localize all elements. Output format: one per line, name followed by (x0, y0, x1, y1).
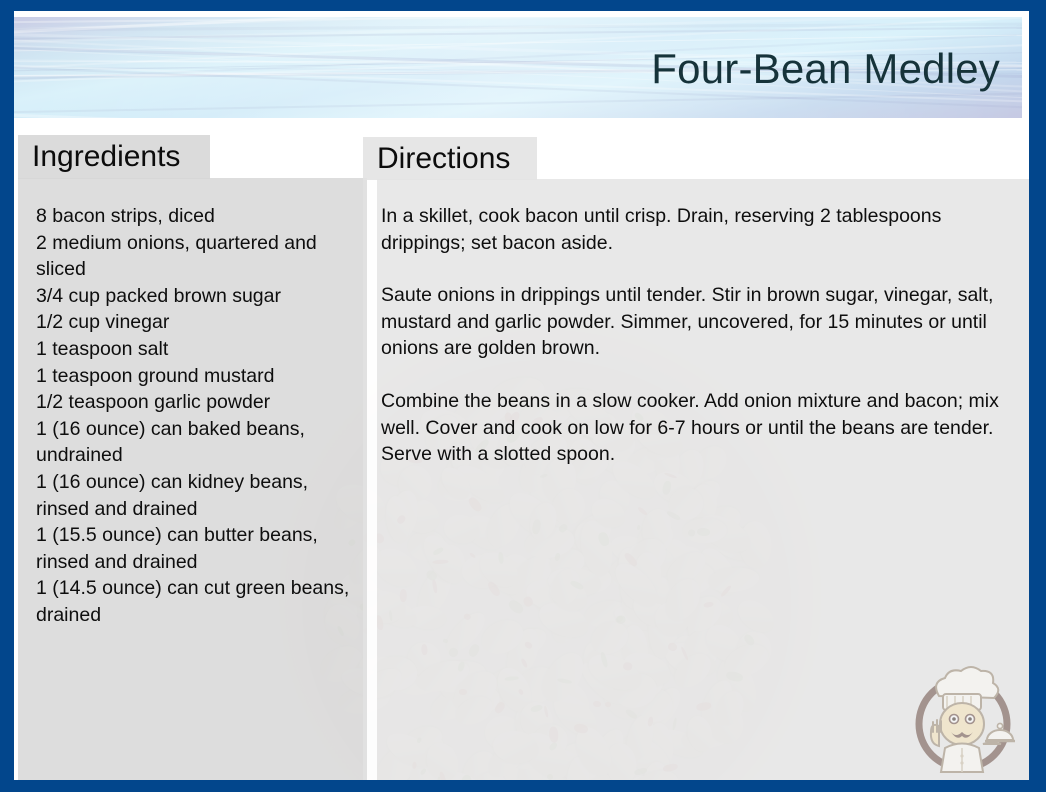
column-divider (367, 179, 377, 780)
ingredient-item: 2 medium onions, quartered and sliced (36, 230, 356, 283)
ingredient-item: 1 teaspoon ground mustard (36, 363, 356, 390)
directions-list: In a skillet, cook bacon until crisp. Dr… (381, 203, 1029, 494)
chef-mascot-logo (903, 656, 1023, 776)
ingredients-list: 8 bacon strips, diced2 medium onions, qu… (36, 203, 356, 629)
direction-step: Combine the beans in a slow cooker. Add … (381, 388, 1029, 468)
ingredient-item: 8 bacon strips, diced (36, 203, 356, 230)
ingredient-item: 1/2 teaspoon garlic powder (36, 389, 356, 416)
ingredient-item: 1 (16 ounce) can kidney beans, rinsed an… (36, 469, 356, 522)
directions-heading-tab: Directions (363, 137, 537, 180)
slide-content-area: Four-Bean Medley Ingredients Directions … (14, 11, 1029, 780)
page-title: Four-Bean Medley (651, 45, 1000, 93)
ingredients-heading-tab: Ingredients (18, 135, 210, 179)
ingredient-item: 1 teaspoon salt (36, 336, 356, 363)
ingredient-item: 1 (14.5 ounce) can cut green beans, drai… (36, 575, 356, 628)
recipe-slide: Four-Bean Medley Ingredients Directions … (0, 0, 1046, 792)
ingredient-item: 1/2 cup vinegar (36, 309, 356, 336)
title-banner: Four-Bean Medley (14, 17, 1022, 118)
ingredients-heading-label: Ingredients (18, 140, 180, 174)
directions-heading-label: Directions (363, 142, 510, 176)
direction-step: In a skillet, cook bacon until crisp. Dr… (381, 203, 1029, 256)
ingredient-item: 3/4 cup packed brown sugar (36, 283, 356, 310)
direction-step: Saute onions in drippings until tender. … (381, 282, 1029, 362)
ingredient-item: 1 (16 ounce) can baked beans, undrained (36, 416, 356, 469)
ingredient-item: 1 (15.5 ounce) can butter beans, rinsed … (36, 522, 356, 575)
